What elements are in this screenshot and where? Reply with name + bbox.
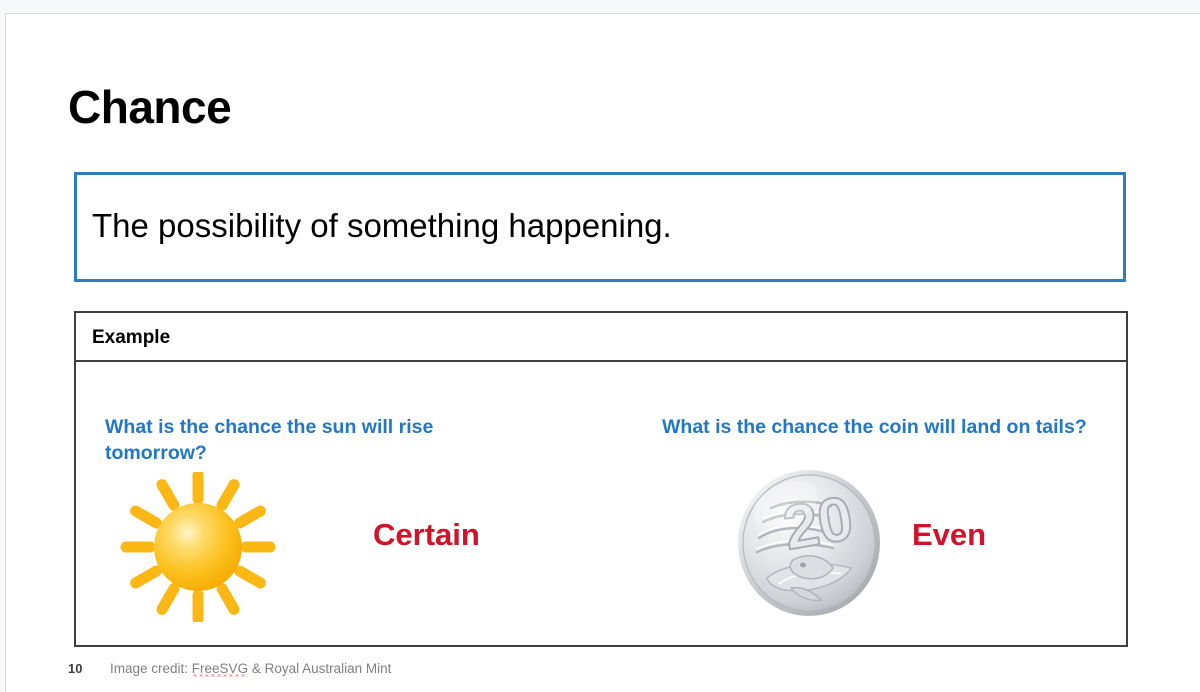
image-credit-source: FreeSVG — [192, 661, 248, 678]
page-title: Chance — [68, 82, 231, 133]
coin-icon: 20 — [733, 464, 885, 622]
example-table-body: What is the chance the sun will rise tom… — [76, 362, 1126, 645]
example-header-label: Example — [92, 327, 170, 349]
definition-text: The possibility of something happening. — [92, 206, 672, 246]
example-cell-coin: What is the chance the coin will land on… — [633, 362, 1126, 645]
image-credit: Image credit: FreeSVG & Royal Australian… — [110, 661, 391, 676]
sun-icon — [114, 472, 282, 622]
example-cell-sun: What is the chance the sun will rise tom… — [76, 362, 633, 645]
answer-sun: Certain — [373, 517, 480, 553]
page-number: 10 — [68, 661, 82, 676]
example-table-header-row: Example — [76, 313, 1126, 362]
question-coin: What is the chance the coin will land on… — [662, 414, 1122, 440]
image-credit-suffix: & Royal Australian Mint — [248, 661, 391, 676]
image-credit-prefix: Image credit: — [110, 661, 192, 676]
example-table: Example What is the chance the sun will … — [74, 311, 1128, 647]
slide-viewer: Chance The possibility of something happ… — [0, 0, 1200, 692]
slide-canvas: Chance The possibility of something happ… — [5, 13, 1200, 692]
answer-coin: Even — [912, 517, 986, 553]
question-sun: What is the chance the sun will rise tom… — [105, 414, 525, 467]
definition-box: The possibility of something happening. — [74, 172, 1126, 282]
